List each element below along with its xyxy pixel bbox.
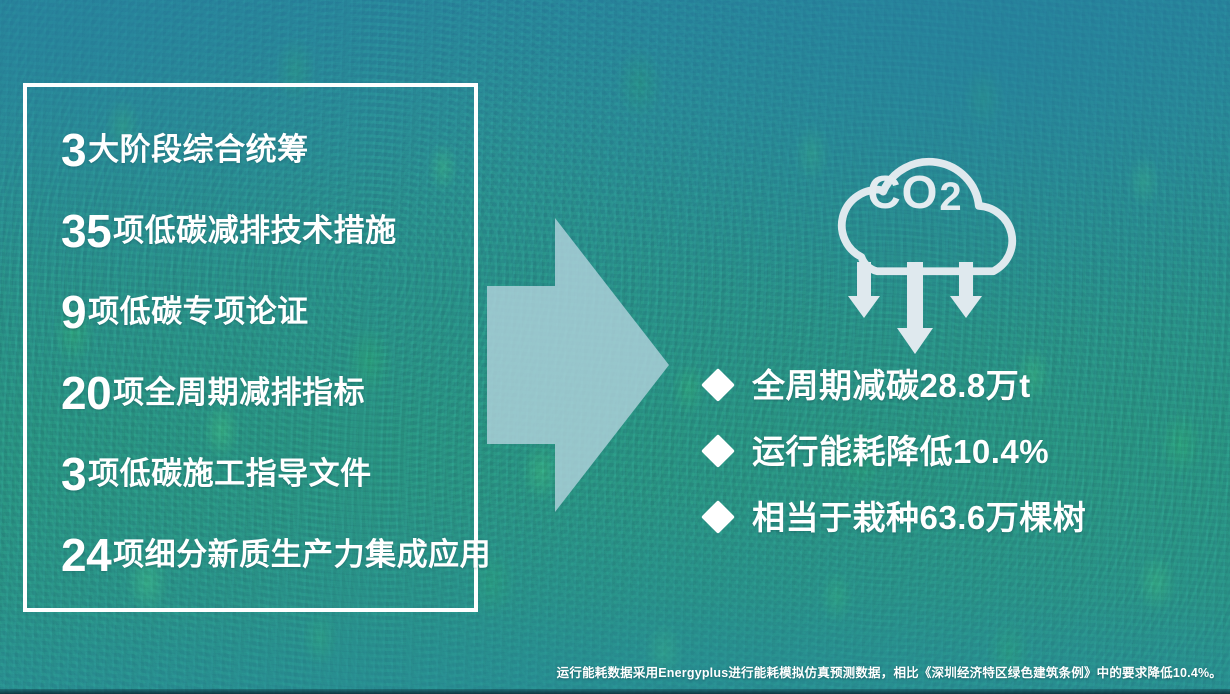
stat-number: 24 [61, 532, 111, 578]
right-arrow-icon [487, 218, 669, 512]
stat-label: 项细分新质生产力集成应用 [113, 539, 491, 570]
result-item-2: 运行能耗降低10.4% [706, 418, 1206, 484]
co2-emission-graphic: CO2 [795, 112, 1035, 362]
slide-root: 3 大阶段综合统筹 35 项低碳减排技术措施 9 项低碳专项论证 20 项全周期… [0, 0, 1230, 694]
stats-box: 3 大阶段综合统筹 35 项低碳减排技术措施 9 项低碳专项论证 20 项全周期… [23, 83, 478, 612]
down-arrows [848, 262, 982, 354]
result-label: 运行能耗降低10.4% [752, 435, 1049, 468]
stat-label: 项低碳减排技术措施 [113, 215, 397, 246]
result-item-3: 相当于栽种63.6万棵树 [706, 484, 1206, 550]
stat-item-1: 3 大阶段综合统筹 [61, 109, 464, 190]
result-label: 相当于栽种63.6万棵树 [752, 501, 1086, 534]
stats-list: 3 大阶段综合统筹 35 项低碳减排技术措施 9 项低碳专项论证 20 项全周期… [61, 109, 464, 595]
stat-number: 3 [61, 127, 86, 173]
stat-label: 大阶段综合统筹 [88, 134, 309, 165]
stat-item-2: 35 项低碳减排技术措施 [61, 190, 464, 271]
result-item-1: 全周期减碳28.8万t [706, 352, 1206, 418]
footnote-caption: 运行能耗数据采用Energyplus进行能耗模拟仿真预测数据，相比《深圳经济特区… [0, 662, 1222, 681]
stat-label: 项全周期减排指标 [113, 377, 365, 408]
stat-label: 项低碳专项论证 [88, 296, 309, 327]
results-list: 全周期减碳28.8万t 运行能耗降低10.4% 相当于栽种63.6万棵树 [706, 352, 1206, 550]
diamond-bullet-icon [701, 434, 735, 468]
stat-item-4: 20 项全周期减排指标 [61, 352, 464, 433]
diamond-bullet-icon [701, 368, 735, 402]
stat-number: 35 [61, 208, 111, 254]
stat-label: 项低碳施工指导文件 [88, 458, 372, 489]
stat-number: 3 [61, 451, 86, 497]
stat-number: 9 [61, 289, 86, 335]
stat-item-5: 3 项低碳施工指导文件 [61, 433, 464, 514]
cloud-icon [795, 112, 1035, 362]
stat-item-3: 9 项低碳专项论证 [61, 271, 464, 352]
stat-item-6: 24 项细分新质生产力集成应用 [61, 514, 464, 595]
diamond-bullet-icon [701, 500, 735, 534]
bottom-edge-strip [0, 689, 1230, 694]
stat-number: 20 [61, 370, 111, 416]
result-label: 全周期减碳28.8万t [752, 369, 1031, 402]
